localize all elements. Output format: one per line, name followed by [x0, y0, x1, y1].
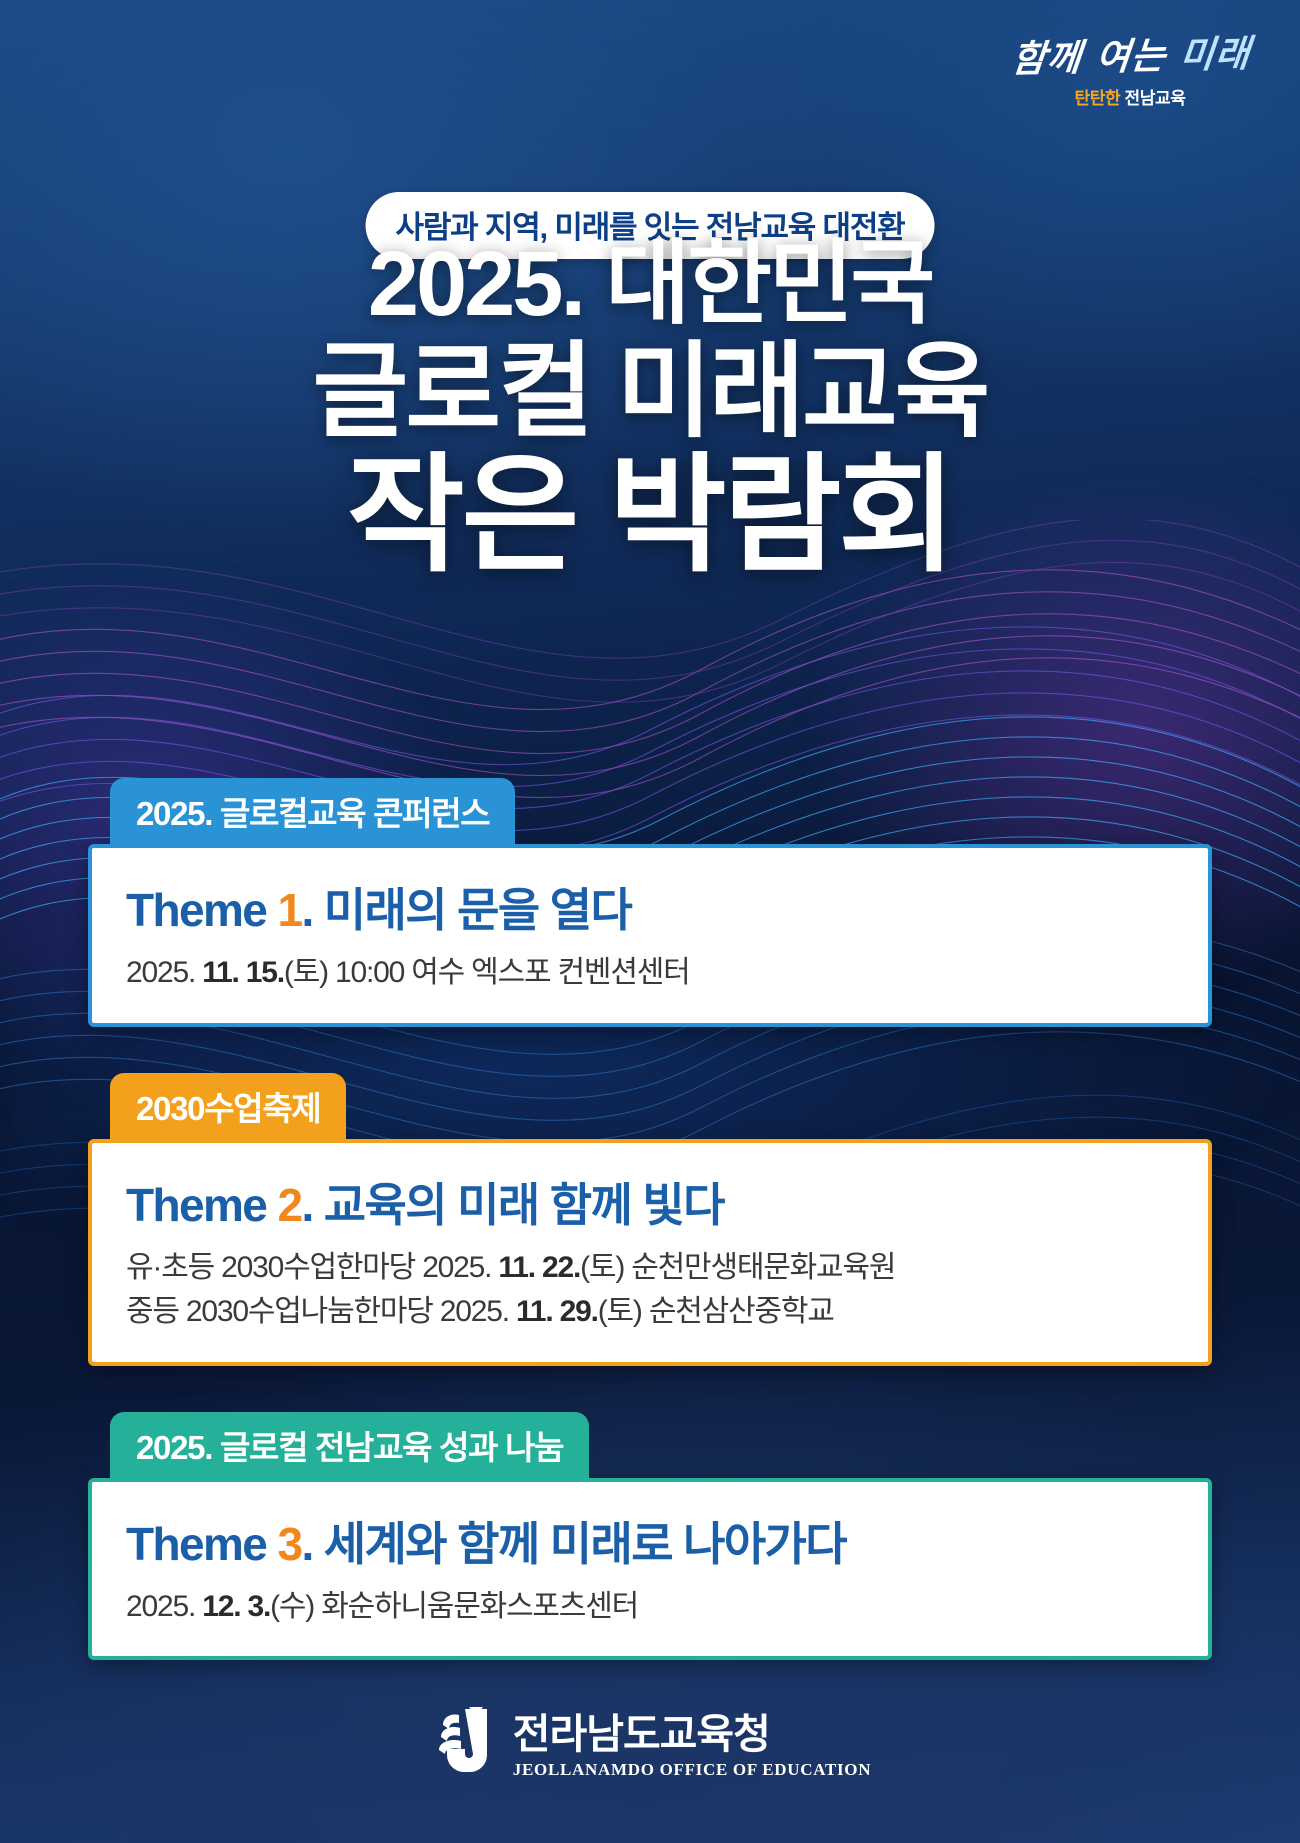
theme-card-3: Theme 3. 세계와 함께 미래로 나아가다 2025. 12. 3.(수)…	[88, 1478, 1212, 1661]
title-line-1: 2025. 대한민국	[0, 238, 1300, 330]
footer-logo-block: 전라남도교육청 JEOLLANAMDO OFFICE OF EDUCATION	[0, 1707, 1300, 1785]
title-line-3: 작은 박람회	[0, 452, 1300, 580]
tab-label-conference: 2025. 글로컬교육 콘퍼런스	[110, 778, 515, 846]
theme-block-3: 2025. 글로컬 전남교육 성과 나눔 Theme 3. 세계와 함께 미래로…	[88, 1412, 1212, 1661]
theme-block-2: 2030수업축제 Theme 2. 교육의 미래 함께 빛다 유·초등 2030…	[88, 1073, 1212, 1366]
title-line-2: 글로컬 미래교육	[0, 340, 1300, 444]
brand-main-text: 함께 여는 미래	[1010, 35, 1250, 80]
footer-office-english: JEOLLANAMDO OFFICE OF EDUCATION	[513, 1760, 871, 1780]
brand-sub-text: 탄탄한 전남교육	[1012, 84, 1248, 109]
poster-root: 함께 여는 미래 탄탄한 전남교육 사람과 지역, 미래를 잇는 전남교육 대전…	[0, 0, 1300, 1843]
theme-detail-2-0: 유·초등 2030수업한마당 2025. 11. 22.(토) 순천만생태문화교…	[126, 1247, 1174, 1290]
footer-text: 전라남도교육청 JEOLLANAMDO OFFICE OF EDUCATION	[513, 1712, 871, 1779]
theme-blocks: 2025. 글로컬교육 콘퍼런스 Theme 1. 미래의 문을 열다 2025…	[0, 778, 1300, 1706]
brand-logo-together-future: 함께 여는 미래 탄탄한 전남교육	[1012, 38, 1248, 109]
tab-label-class-festival: 2030수업축제	[110, 1073, 346, 1141]
jeollanamdo-emblem-icon	[429, 1707, 495, 1785]
theme-heading-2: Theme 2. 교육의 미래 함께 빛다	[126, 1169, 1174, 1235]
theme-detail-1-0: 2025. 11. 15.(토) 10:00 여수 엑스포 컨벤션센터	[126, 952, 1174, 995]
theme-card-2: Theme 2. 교육의 미래 함께 빛다 유·초등 2030수업한마당 202…	[88, 1139, 1212, 1366]
tab-label-outcome-sharing: 2025. 글로컬 전남교육 성과 나눔	[110, 1412, 589, 1480]
theme-block-1: 2025. 글로컬교육 콘퍼런스 Theme 1. 미래의 문을 열다 2025…	[88, 778, 1212, 1027]
page-title: 2025. 대한민국 글로컬 미래교육 작은 박람회	[0, 238, 1300, 580]
theme-card-1: Theme 1. 미래의 문을 열다 2025. 11. 15.(토) 10:0…	[88, 844, 1212, 1027]
theme-detail-2-1: 중등 2030수업나눔한마당 2025. 11. 29.(토) 순천삼산중학교	[126, 1291, 1174, 1334]
footer-office-korean: 전라남도교육청	[513, 1712, 871, 1756]
theme-heading-1: Theme 1. 미래의 문을 열다	[126, 874, 1174, 940]
theme-heading-3: Theme 3. 세계와 함께 미래로 나아가다	[126, 1508, 1174, 1574]
theme-detail-3-0: 2025. 12. 3.(수) 화순하니움문화스포츠센터	[126, 1586, 1174, 1629]
